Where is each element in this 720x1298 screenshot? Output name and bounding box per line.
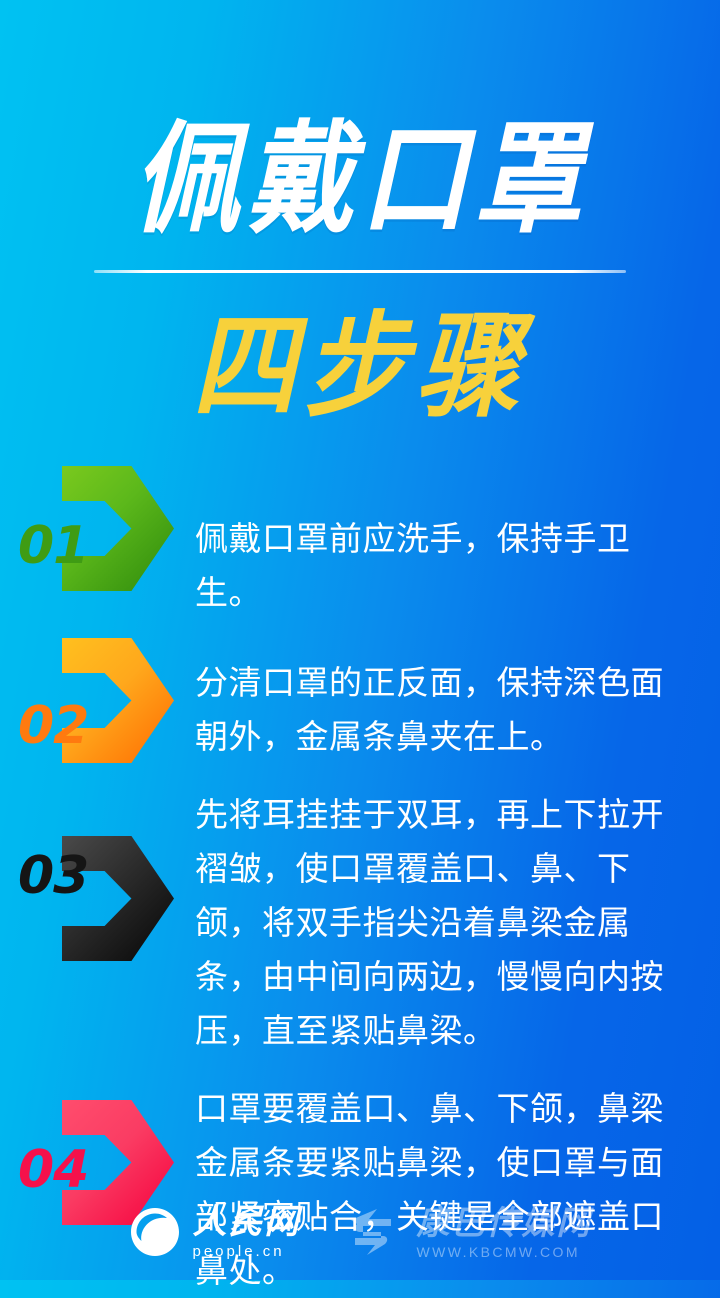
kbcmw-watermark: 康巴传媒网 WWW.KBCMW.COM bbox=[347, 1206, 592, 1259]
step-text-03: 先将耳挂挂于双耳，再上下拉开褶皱，使口罩覆盖口、鼻、下颌，将双手指尖沿着鼻梁金属… bbox=[195, 788, 720, 1058]
step-number-01: 01 bbox=[18, 520, 148, 572]
title-divider bbox=[94, 270, 626, 273]
step-number-03: 03 bbox=[18, 850, 148, 902]
step-text-02: 分清口罩的正反面，保持深色面朝外，金属条鼻夹在上。 bbox=[195, 638, 720, 764]
step-badge-col-02: 02 bbox=[0, 638, 195, 763]
step-item-02: 02 分清口罩的正反面，保持深色面朝外，金属条鼻夹在上。 bbox=[0, 638, 720, 764]
step-number-02: 02 bbox=[18, 700, 148, 752]
people-cn-name-zh: 人民网 bbox=[193, 1205, 301, 1239]
step-badge-col-01: 01 bbox=[0, 466, 195, 591]
page-subtitle: 四步骤 bbox=[0, 307, 720, 426]
steps-list: 01 佩戴口罩前应洗手，保持手卫生。 02 分清口罩的正反面，保持深色面朝外，金… bbox=[0, 466, 720, 1298]
globe-swirl-icon bbox=[129, 1206, 181, 1258]
step-badge-col-03: 03 bbox=[0, 788, 195, 961]
people-cn-text: 人民网 people.cn bbox=[193, 1205, 301, 1259]
page-title: 佩戴口罩 bbox=[0, 118, 720, 243]
step-text-01: 佩戴口罩前应洗手，保持手卫生。 bbox=[195, 466, 720, 620]
kbcmw-url: WWW.KBCMW.COM bbox=[417, 1245, 592, 1259]
people-cn-name-en: people.cn bbox=[193, 1244, 301, 1259]
step-item-03: 03 先将耳挂挂于双耳，再上下拉开褶皱，使口罩覆盖口、鼻、下颌，将双手指尖沿着鼻… bbox=[0, 788, 720, 1058]
footer: 人民网 people.cn 康巴传媒网 WWW.KBCMW.COM bbox=[0, 1184, 720, 1280]
poster-header: 佩戴口罩 四步骤 bbox=[0, 0, 720, 415]
people-cn-logo: 人民网 people.cn bbox=[129, 1205, 301, 1259]
kbcmw-name-zh: 康巴传媒网 bbox=[417, 1206, 592, 1239]
title-divider-wrap bbox=[0, 270, 720, 273]
kbcmw-arrow-icon bbox=[347, 1206, 405, 1258]
kbcmw-text: 康巴传媒网 WWW.KBCMW.COM bbox=[417, 1206, 592, 1259]
step-item-01: 01 佩戴口罩前应洗手，保持手卫生。 bbox=[0, 466, 720, 620]
